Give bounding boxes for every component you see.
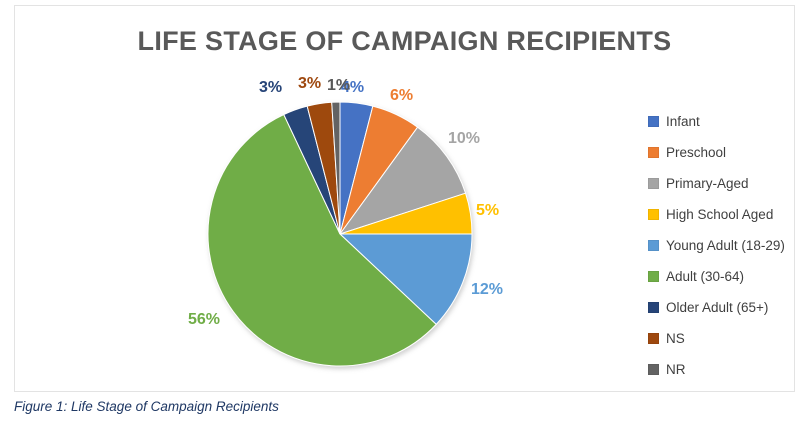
legend-swatch-icon: [648, 116, 659, 127]
legend-item-label: Infant: [666, 114, 700, 129]
legend-item-label: Preschool: [666, 145, 726, 160]
legend-swatch-icon: [648, 271, 659, 282]
legend-swatch-icon: [648, 333, 659, 344]
legend-item-label: NR: [666, 362, 686, 377]
pie-data-label: 3%: [259, 80, 282, 96]
legend-item[interactable]: High School Aged: [648, 199, 808, 230]
legend-swatch-icon: [648, 209, 659, 220]
pie-data-label: 10%: [448, 131, 480, 147]
figure-container: LIFE STAGE OF CAMPAIGN RECIPIENTS 4%6%10…: [0, 0, 810, 434]
legend-item-label: Young Adult (18-29): [666, 238, 785, 253]
legend-swatch-icon: [648, 364, 659, 375]
chart-frame: LIFE STAGE OF CAMPAIGN RECIPIENTS 4%6%10…: [14, 5, 795, 392]
legend-item[interactable]: Young Adult (18-29): [648, 230, 808, 261]
pie-data-label: 3%: [298, 76, 321, 92]
pie-data-label: 6%: [390, 88, 413, 104]
legend-item[interactable]: Adult (30-64): [648, 261, 808, 292]
legend-swatch-icon: [648, 147, 659, 158]
pie-data-label: 12%: [471, 282, 503, 298]
legend-item[interactable]: Primary-Aged: [648, 168, 808, 199]
legend-swatch-icon: [648, 178, 659, 189]
pie-chart-plot-area: 4%6%10%5%12%56%3%3%1%: [190, 94, 490, 379]
legend-swatch-icon: [648, 240, 659, 251]
legend-item[interactable]: NS: [648, 323, 808, 354]
legend-item-label: Primary-Aged: [666, 176, 749, 191]
legend-item[interactable]: Older Adult (65+): [648, 292, 808, 323]
legend-item[interactable]: NR: [648, 354, 808, 385]
legend-item-label: Adult (30-64): [666, 269, 744, 284]
legend-item[interactable]: Infant: [648, 106, 808, 137]
pie-data-label: 1%: [327, 78, 350, 94]
pie-chart-svg: [190, 94, 490, 379]
legend-item-label: High School Aged: [666, 207, 773, 222]
chart-title: LIFE STAGE OF CAMPAIGN RECIPIENTS: [15, 26, 794, 57]
pie-data-label: 5%: [476, 203, 499, 219]
chart-legend: InfantPreschoolPrimary-AgedHigh School A…: [648, 106, 808, 385]
legend-item-label: NS: [666, 331, 685, 346]
pie-data-label: 56%: [188, 312, 220, 328]
pie-slice-group: [208, 102, 472, 366]
figure-caption: Figure 1: Life Stage of Campaign Recipie…: [14, 399, 279, 414]
legend-item[interactable]: Preschool: [648, 137, 808, 168]
legend-swatch-icon: [648, 302, 659, 313]
legend-item-label: Older Adult (65+): [666, 300, 768, 315]
